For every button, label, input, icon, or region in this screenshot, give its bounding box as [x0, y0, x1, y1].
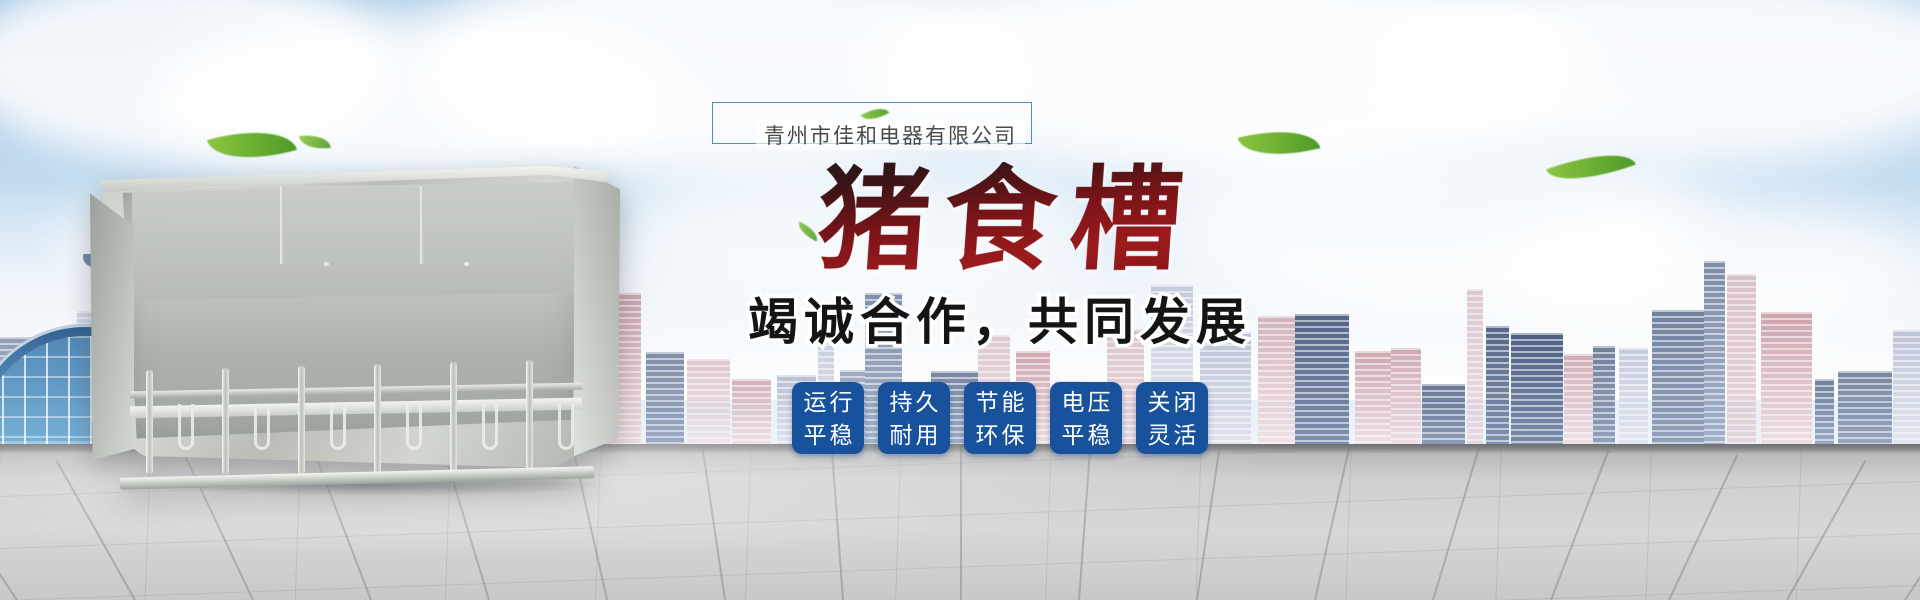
trough-bar — [526, 360, 533, 474]
product-image-pig-feeder-trough — [72, 160, 632, 490]
skyline-building — [646, 352, 684, 444]
trough-hook-loop — [482, 404, 498, 450]
feature-badge-list: 运行平稳持久耐用节能环保电压平稳关闭灵活 — [690, 382, 1310, 454]
skyline-building — [1391, 348, 1421, 444]
badge-line-2: 环保 — [964, 419, 1036, 452]
trough-stud — [324, 262, 329, 266]
skyline-building — [1761, 312, 1812, 444]
feature-badge-4[interactable]: 电压平稳 — [1050, 382, 1122, 454]
badge-line-2: 灵活 — [1136, 419, 1208, 452]
badge-line-1: 电压 — [1050, 386, 1122, 419]
badge-line-2: 耐用 — [878, 419, 950, 452]
company-name: 青州市佳和电器有限公司 — [756, 120, 1025, 150]
skyline-building — [1893, 330, 1920, 444]
trough-divider — [280, 186, 284, 264]
trough-back-wall — [132, 182, 580, 300]
banner-copy: 青州市佳和电器有限公司 猪食槽 竭诚合作，共同发展 运行平稳持久耐用节能环保电压… — [690, 96, 1310, 454]
skyline-building — [1355, 351, 1391, 444]
skyline-building — [1815, 379, 1834, 444]
skyline-building — [1486, 326, 1509, 444]
trough-body — [72, 160, 632, 490]
trough-bar — [146, 370, 153, 474]
trough-hook-loop — [558, 404, 574, 450]
feature-badge-3[interactable]: 节能环保 — [964, 382, 1036, 454]
skyline-building — [1704, 261, 1725, 444]
trough-bar — [222, 368, 229, 474]
skyline-building — [1467, 289, 1483, 444]
trough-bar — [298, 366, 305, 474]
badge-line-1: 持久 — [878, 386, 950, 419]
skyline-building — [1838, 371, 1892, 444]
trough-stud — [464, 262, 469, 266]
trough-hook-loop — [406, 404, 422, 450]
skyline-building — [1422, 384, 1465, 444]
feature-badge-1[interactable]: 运行平稳 — [792, 382, 864, 454]
trough-right-side — [574, 166, 620, 456]
badge-line-1: 节能 — [964, 386, 1036, 419]
skyline-building — [1652, 310, 1704, 444]
trough-bar — [450, 362, 457, 474]
subtitle-slogan: 竭诚合作，共同发展 — [690, 282, 1310, 354]
trough-feeding-bars — [134, 348, 580, 474]
trough-hook-loop — [178, 404, 194, 450]
trough-hook-loop — [254, 404, 270, 450]
badge-line-1: 运行 — [792, 386, 864, 419]
trough-bar — [374, 364, 381, 474]
skyline-building — [1727, 274, 1756, 444]
feature-badge-5[interactable]: 关闭灵活 — [1136, 382, 1208, 454]
company-name-block: 青州市佳和电器有限公司 — [690, 96, 1310, 158]
main-title: 猪食槽 — [686, 162, 1314, 280]
badge-line-2: 平稳 — [792, 419, 864, 452]
skyline-building — [1619, 348, 1648, 444]
promo-banner: 青州市佳和电器有限公司 猪食槽 竭诚合作，共同发展 运行平稳持久耐用节能环保电压… — [0, 0, 1920, 600]
skyline-building — [1564, 354, 1593, 444]
trough-divider — [420, 186, 424, 264]
badge-line-1: 关闭 — [1136, 386, 1208, 419]
badge-line-2: 平稳 — [1050, 419, 1122, 452]
trough-hook-loop — [330, 404, 346, 450]
trough-left-side — [90, 188, 134, 460]
feature-badge-2[interactable]: 持久耐用 — [878, 382, 950, 454]
skyline-building — [1511, 333, 1563, 444]
skyline-building — [1593, 346, 1615, 444]
